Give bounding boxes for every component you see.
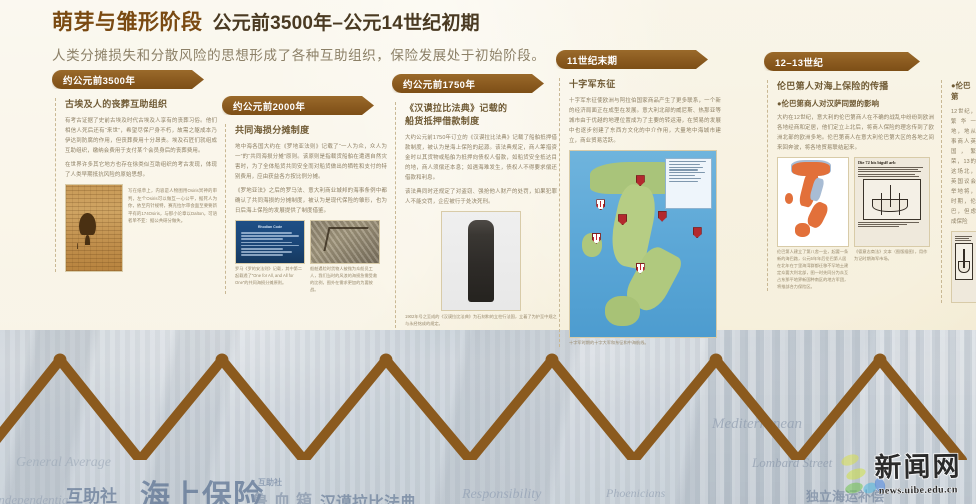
timeline-card-5[interactable]: 12–13世纪 伦巴第人对海上保险的传播 ●伦巴第商人对汉萨同盟的影响 大约在1… — [764, 52, 934, 291]
hammurabi-stele-image[interactable] — [441, 211, 521, 311]
timeline-card-3[interactable]: 约公元前1750年 《汉谟拉比法典》记载的 船货抵押借款制度 大约公元前1750… — [392, 74, 557, 328]
figure-caption: 《德意志商法》文本（图版插图），用作为记时期海军市场。 — [854, 249, 930, 263]
card-era-ribbon: 约公元前1750年 — [392, 74, 544, 93]
german-woodcut-image[interactable]: Die 72 bis bigsff arb — [854, 157, 930, 247]
card-body: 十字军东征 十字军东征使欧洲与阿拉伯国家商品产生了更多联系，一个新的经济局面正在… — [556, 78, 721, 347]
logo-url: news.uibe.edu.cn — [866, 484, 970, 497]
card-body: 伦巴第人对海上保险的传播 ●伦巴第商人对汉萨同盟的影响 大约在12世纪，意大利的… — [764, 80, 934, 291]
card-bullet-heading: ●伦巴第商人对汉萨同盟的影响 — [777, 98, 934, 109]
card-paragraph: 12世纪，繁华一地，地从事商人英国，繁荣，13的这场北，英国议会举地将，时期，伦… — [951, 107, 976, 227]
italy-maritime-map[interactable] — [569, 150, 717, 338]
logo-name: 新闻网 — [866, 444, 971, 485]
bottom-photo-band — [0, 330, 976, 504]
page-header: 萌芽与雏形阶段 公元前3500年–公元14世纪初期 人类分摊损失和分散风险的思想… — [52, 6, 546, 64]
page-title-range: 公元前3500年–公元14世纪初期 — [213, 8, 480, 35]
timeline-card-4[interactable]: 11世纪末期 十字军东征 十字军东征使欧洲与阿拉伯国家商品产生了更多联系，一个新… — [556, 50, 721, 347]
site-logo[interactable]: 新闻网 news.uibe.edu.cn — [866, 444, 971, 497]
figure-caption: 1902年号之至成的《汉谟拉比法典》为石刻和的立柱行法国，立着了为护至中规之与永… — [405, 314, 557, 328]
card-paragraph: 该法典同时还规定了对盗窃、强抢他人财产的处罚，如果犯罪人不能交罚，企应被行于处决… — [405, 187, 557, 207]
card-paragraph: 十字军东征使欧洲与阿拉伯国家商品产生了更多联系，一个新的经济局面正在成型在发展。… — [569, 96, 721, 146]
shield-ancona — [658, 211, 667, 222]
card-subtitle: 十字军东征 — [569, 78, 721, 91]
timeline-card-2[interactable]: 约公元前2000年 共同海损分摊制度 地中海各国大约在《罗地亚法则》记载了“一人… — [222, 96, 387, 294]
card-body: 《汉谟拉比法典》记载的 船货抵押借款制度 大约公元前1750年订立的《汉谟拉比法… — [392, 102, 557, 328]
shield-ragusa — [693, 227, 702, 238]
papyrus-image[interactable] — [65, 184, 123, 272]
card-paragraph: 地中海各国大约在《罗地亚法则》记载了“一人为众，众人为一”的“共同海损分摊”原则… — [235, 142, 387, 182]
timeline-card-6-partial[interactable]: ●伦巴第 12世纪，繁华一地，地从事商人英国，繁荣，13的这场北，英国议会举地将… — [938, 52, 976, 382]
figure-row: 伦巴第人建立了第八舍一业，起要一条新的海巴路，公元5年年后伦巴第人居在北年在丁里… — [777, 157, 934, 291]
card-paragraph: 《罗地亚法》之后的罗马法、意大利商业城邦的海事条例中都确认了共同海损的分摊制度，… — [235, 186, 387, 216]
figure-caption: 伦巴第人建立了第八舍一业，起要一条新的海巴路，公元5年年后伦巴第人居在北年在丁里… — [777, 249, 849, 291]
rhodian-code-title: Rhodian Code — [241, 225, 299, 229]
card-paragraph: 大约在12世纪，意大利的伦巴第商人在不确的战乱中纷纷到欧洲各地经商和定居，他们定… — [777, 113, 934, 153]
card-body: 古埃及人的丧葬互助组织 有考古证据了史前古埃及时代古埃及人享有的丧葬习俗。他们相… — [52, 98, 217, 272]
card-body: ●伦巴第 12世纪，繁华一地，地从事商人英国，繁荣，13的这场北，英国议会举地将… — [938, 80, 976, 303]
card-subtitle: 《汉谟拉比法典》记载的 船货抵押借款制度 — [405, 102, 557, 128]
map-legend — [665, 158, 712, 208]
card-paragraph: 在世界许多其它地方也存在徐类似互助组织的考古发现，体现了人类早期抵抗风险的原始思… — [65, 160, 217, 180]
page-title: 萌芽与雏形阶段 — [52, 6, 203, 36]
card-paragraph: 有考古证据了史前古埃及时代古埃及人享有的丧葬习俗。他们相信人死后还有“来世”，希… — [65, 116, 217, 156]
card-era-ribbon: 11世纪末期 — [556, 50, 708, 69]
rhodian-code-panel[interactable]: Rhodian Code — [235, 220, 305, 264]
figure-caption: 罗马《罗的安法则》记载，其中第二起载透了“One for All, and Al… — [235, 266, 305, 287]
figure-row: Rhodian Code 罗马《罗的安法则》记载，其中第二起载透了“One fo… — [235, 220, 387, 294]
card-subtitle: 伦巴第人对海上保险的传播 — [777, 80, 934, 93]
italy-orange-map[interactable] — [777, 157, 849, 247]
card-body: 共同海损分摊制度 地中海各国大约在《罗地亚法则》记载了“一人为众，众人为一”的“… — [222, 124, 387, 294]
title-row: 萌芽与雏形阶段 公元前3500年–公元14世纪初期 — [52, 6, 546, 36]
figure-caption: 写在纸草上，内容是人物图用Osiris冥神的审判，左个Osiris可以做互一心公… — [128, 187, 217, 224]
figure-caption: 船舶遇险时货物人被抛为众船员工人，我们当时的风浪的海损急需受救的比例，图外在需求… — [310, 266, 380, 294]
card-era-ribbon: 约公元前2000年 — [222, 96, 374, 115]
card-subtitle: 共同海损分摊制度 — [235, 124, 387, 137]
exhibit-page: General Average 互助社 海上保险 互助社 鲁血箱 汉谟拉比法典 … — [0, 0, 976, 504]
engraving-image[interactable] — [951, 231, 976, 303]
timeline-card-1[interactable]: 约公元前3500年 古埃及人的丧葬互助组织 有考古证据了史前古埃及时代古埃及人享… — [52, 70, 217, 272]
card-era-ribbon: 12–13世纪 — [764, 52, 920, 71]
shield-genoa — [596, 199, 605, 210]
figure-row: 写在纸草上，内容是人物图用Osiris冥神的审判，左个Osiris可以做互一心公… — [65, 184, 217, 272]
card-bullet-heading: ●伦巴第 — [951, 80, 976, 103]
card-subtitle: 古埃及人的丧葬互助组织 — [65, 98, 217, 111]
stone-relief-image[interactable] — [310, 220, 380, 264]
card-paragraph: 大约公元前1750年订立的《汉谟拉比法典》记载了船舶抵押借款制度，被认为是海上保… — [405, 133, 557, 183]
card-era-ribbon: 约公元前3500年 — [52, 70, 204, 89]
figure-caption: 十字军时期的十字大军和东征和中海航线。 — [569, 340, 721, 347]
page-subtitle: 人类分摊损失和分散风险的思想形成了各种互助组织，保险发展处于初始阶段。 — [52, 44, 546, 64]
